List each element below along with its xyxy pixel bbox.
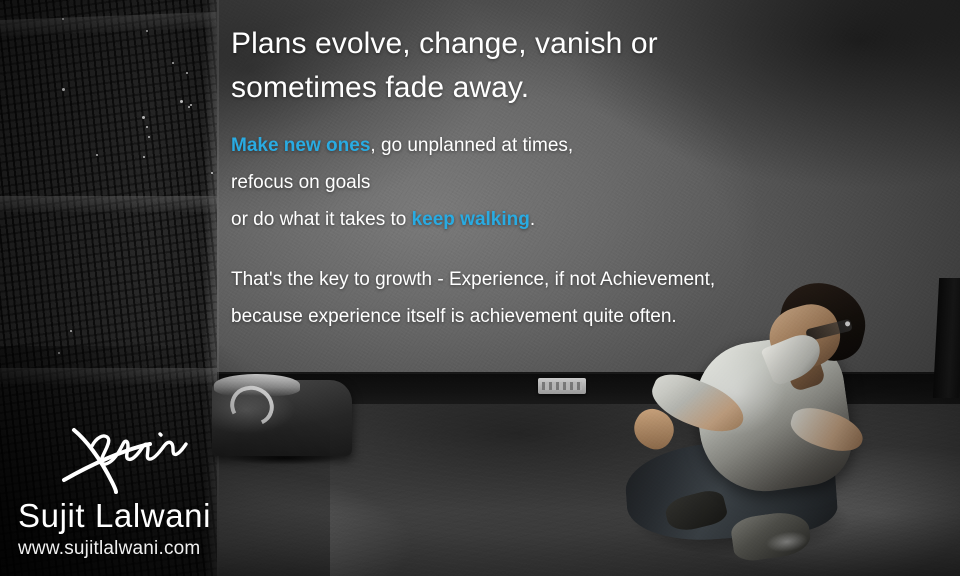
net-band: [0, 368, 217, 384]
light-speck: [58, 352, 60, 354]
headline-line-2: sometimes fade away.: [231, 66, 931, 110]
paragraph-1-line-1: Make new ones, go unplanned at times,: [231, 127, 931, 164]
brand-name: Sujit Lalwani: [18, 496, 318, 536]
light-speck: [172, 62, 174, 64]
brand-url[interactable]: www.sujitlalwani.com: [18, 536, 318, 562]
light-speck: [70, 330, 72, 332]
light-speck: [186, 72, 188, 74]
net-band: [0, 196, 217, 212]
headline: Plans evolve, change, vanish or sometime…: [231, 22, 931, 110]
light-speck: [190, 104, 192, 106]
light-speck: [142, 116, 145, 119]
light-speck: [96, 154, 98, 156]
accent-phrase-keep-walking: keep walking: [412, 209, 530, 230]
light-speck: [146, 126, 148, 128]
light-speck: [211, 172, 213, 174]
branding-block: Sujit Lalwani www.sujitlalwani.com: [18, 424, 318, 562]
quote-text-block: Plans evolve, change, vanish or sometime…: [231, 22, 931, 335]
paragraph-1-line-2: refocus on goals: [231, 164, 931, 201]
quote-graphic: Plans evolve, change, vanish or sometime…: [0, 0, 960, 576]
paragraph-1-line-3: or do what it takes to keep walking.: [231, 201, 931, 238]
wall-socket: [538, 378, 586, 394]
signature-mark: [60, 424, 318, 496]
light-speck: [188, 106, 190, 108]
quote-paragraph-2: That's the key to growth - Experience, i…: [231, 261, 931, 335]
quote-paragraph-1: Make new ones, go unplanned at times, re…: [231, 127, 931, 238]
light-speck: [146, 30, 148, 32]
light-speck: [143, 156, 145, 158]
paragraph-1-line-1-rest: , go unplanned at times,: [370, 135, 573, 156]
headline-line-1: Plans evolve, change, vanish or: [231, 22, 931, 66]
accent-phrase-make-new-ones: Make new ones: [231, 135, 370, 156]
paragraph-2-line-1: That's the key to growth - Experience, i…: [231, 261, 931, 298]
light-speck: [62, 88, 65, 91]
light-speck: [148, 136, 150, 138]
paragraph-1-line-3-tail: .: [530, 209, 535, 230]
paragraph-2-line-2: because experience itself is achievement…: [231, 298, 931, 335]
light-speck: [62, 18, 64, 20]
light-speck: [180, 100, 183, 103]
paragraph-1-line-3-lead: or do what it takes to: [231, 209, 412, 230]
